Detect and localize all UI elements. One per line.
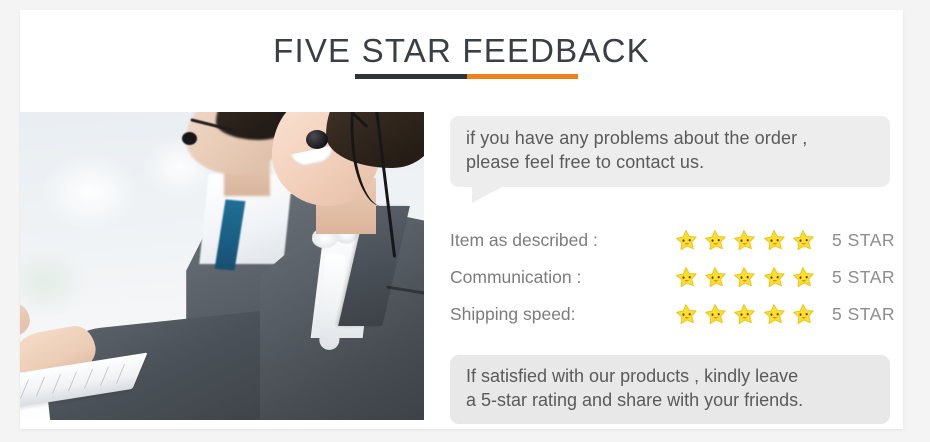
rating-label-communication: Communication : (450, 267, 675, 288)
star-icon (733, 229, 756, 252)
star-icon (704, 303, 727, 326)
title-divider (355, 74, 578, 79)
rating-label-shipping-speed: Shipping speed: (450, 304, 675, 325)
star-rating-communication (675, 266, 815, 289)
rating-row: Communication : 5 STAR (450, 259, 900, 296)
star-icon (792, 303, 815, 326)
feedback-banner: FIVE STAR FEEDBACK (0, 0, 930, 442)
star-icon (763, 229, 786, 252)
star-icon (704, 229, 727, 252)
footer-note-line-1: If satisfied with our products , kindly … (466, 365, 874, 389)
rating-value-item-as-described: 5 STAR (815, 230, 900, 251)
leave-rating-note: If satisfied with our products , kindly … (450, 355, 890, 424)
rating-value-communication: 5 STAR (815, 267, 900, 288)
speech-bubble-tail (472, 187, 502, 203)
star-icon (792, 229, 815, 252)
background-man-mic-tip (182, 132, 197, 145)
star-icon (763, 303, 786, 326)
star-icon (792, 266, 815, 289)
rating-row: Item as described : 5 STAR (450, 222, 900, 259)
contact-bubble-line-1: if you have any problems about the order… (466, 127, 874, 151)
footer-note-line-2: a 5-star rating and share with your frie… (466, 389, 874, 413)
star-rating-shipping-speed (675, 303, 815, 326)
star-icon (675, 266, 698, 289)
foreground-woman-mic-tip (306, 130, 328, 149)
star-icon (763, 266, 786, 289)
title-divider-dark-segment (355, 74, 467, 79)
rating-value-shipping-speed: 5 STAR (815, 304, 900, 325)
star-icon (733, 303, 756, 326)
contact-speech-bubble: if you have any problems about the order… (450, 116, 890, 187)
title-divider-accent-segment (467, 74, 579, 79)
feedback-card: FIVE STAR FEEDBACK (20, 10, 903, 429)
star-icon (704, 266, 727, 289)
star-icon (733, 266, 756, 289)
star-rating-item-as-described (675, 229, 815, 252)
star-icon (675, 303, 698, 326)
ratings-list: Item as described : 5 STAR Communication… (450, 222, 900, 333)
page-title: FIVE STAR FEEDBACK (20, 32, 903, 70)
rating-label-item-as-described: Item as described : (450, 230, 675, 251)
star-icon (675, 229, 698, 252)
agent-foreground-woman (266, 112, 424, 420)
rating-row: Shipping speed: 5 STAR (450, 296, 900, 333)
contact-bubble-line-2: please feel free to contact us. (466, 151, 874, 175)
feedback-content: if you have any problems about the order… (450, 116, 900, 424)
customer-service-photo (20, 112, 424, 420)
